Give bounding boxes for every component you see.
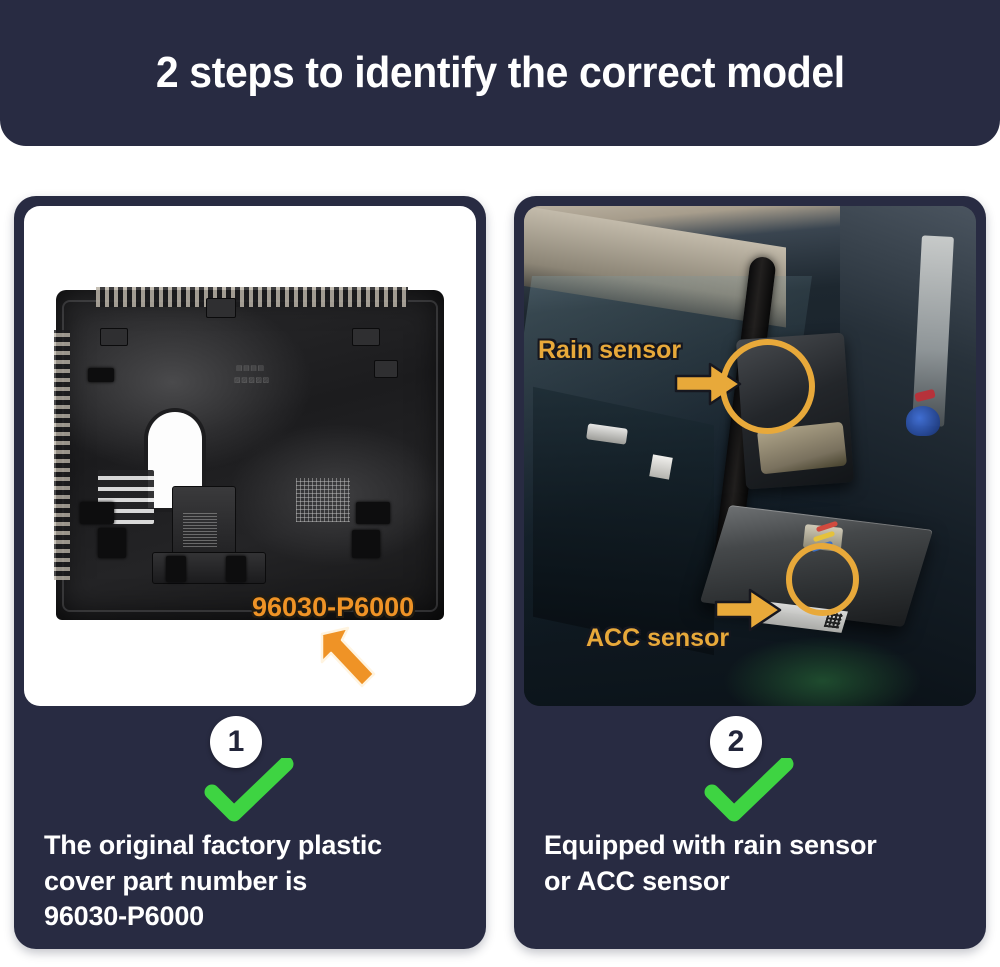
step-badge-row: 1 bbox=[14, 716, 486, 826]
white-tag bbox=[649, 454, 673, 479]
cover-clip bbox=[226, 556, 246, 582]
green-check-icon bbox=[704, 758, 796, 824]
cover-left-teeth bbox=[54, 330, 70, 580]
infographic-page: 2 steps to identify the correct model bbox=[0, 0, 1000, 967]
rain-sensor-callout: Rain sensor bbox=[538, 336, 681, 365]
step-caption: The original factory plastic cover part … bbox=[44, 828, 466, 935]
acc-sensor-callout: ACC sensor bbox=[586, 624, 729, 653]
cover-tab bbox=[100, 328, 128, 346]
step-badge-group: 2 bbox=[690, 716, 810, 826]
dashboard-panel bbox=[533, 387, 714, 655]
factory-plastic-cover-photo: ▤▤▤▤ ▨▨▨▨▨ 96030-P6000 bbox=[24, 206, 476, 706]
cover-clip bbox=[98, 528, 126, 558]
caption-line: The original factory plastic bbox=[44, 828, 466, 864]
green-light-glow bbox=[723, 636, 922, 706]
cover-center-block bbox=[172, 486, 236, 562]
cover-clip bbox=[352, 530, 380, 558]
cover-emboss-text: ▨▨▨▨▨ bbox=[234, 376, 270, 384]
caption-line: cover part number is bbox=[44, 864, 466, 900]
cover-clip bbox=[88, 368, 114, 382]
cover-tab bbox=[374, 360, 398, 378]
rain-sensor-highlight-circle bbox=[720, 339, 815, 434]
step-card-2[interactable]: Rain sensor ACC sensor 2 bbox=[514, 196, 986, 949]
step-card-1[interactable]: ▤▤▤▤ ▨▨▨▨▨ 96030-P6000 1 bbox=[14, 196, 486, 949]
cover-photo-canvas: ▤▤▤▤ ▨▨▨▨▨ 96030-P6000 bbox=[24, 206, 476, 706]
caption-line: 96030-P6000 bbox=[44, 899, 466, 935]
caption-line: Equipped with rain sensor bbox=[544, 828, 966, 864]
cover-clip bbox=[166, 556, 186, 582]
cover-clip bbox=[356, 502, 390, 524]
acc-sensor-arrow bbox=[714, 584, 784, 636]
plastic-cover-part: ▤▤▤▤ ▨▨▨▨▨ bbox=[56, 290, 444, 620]
step-badge-row: 2 bbox=[514, 716, 986, 826]
cover-top-teeth bbox=[96, 287, 408, 307]
cover-mesh-texture bbox=[296, 478, 350, 522]
blue-component bbox=[906, 406, 940, 436]
cover-emboss-text: ▤▤▤▤ bbox=[236, 364, 264, 372]
windshield-sensor-photo: Rain sensor ACC sensor bbox=[524, 206, 976, 706]
green-check-icon bbox=[204, 758, 296, 824]
cover-clip bbox=[80, 502, 114, 524]
a-pillar bbox=[840, 206, 976, 706]
part-number-arrow bbox=[314, 618, 386, 692]
header-banner: 2 steps to identify the correct model bbox=[0, 0, 1000, 146]
page-title: 2 steps to identify the correct model bbox=[156, 48, 845, 98]
caption-line: or ACC sensor bbox=[544, 864, 966, 900]
acc-sensor-highlight-circle bbox=[786, 543, 859, 616]
cover-tab bbox=[206, 298, 236, 318]
step-caption: Equipped with rain sensor or ACC sensor bbox=[544, 828, 966, 899]
cover-tab bbox=[352, 328, 380, 346]
sensor-photo-canvas: Rain sensor ACC sensor bbox=[524, 206, 976, 706]
steps-container: ▤▤▤▤ ▨▨▨▨▨ 96030-P6000 1 bbox=[14, 196, 986, 951]
step-badge-group: 1 bbox=[190, 716, 310, 826]
